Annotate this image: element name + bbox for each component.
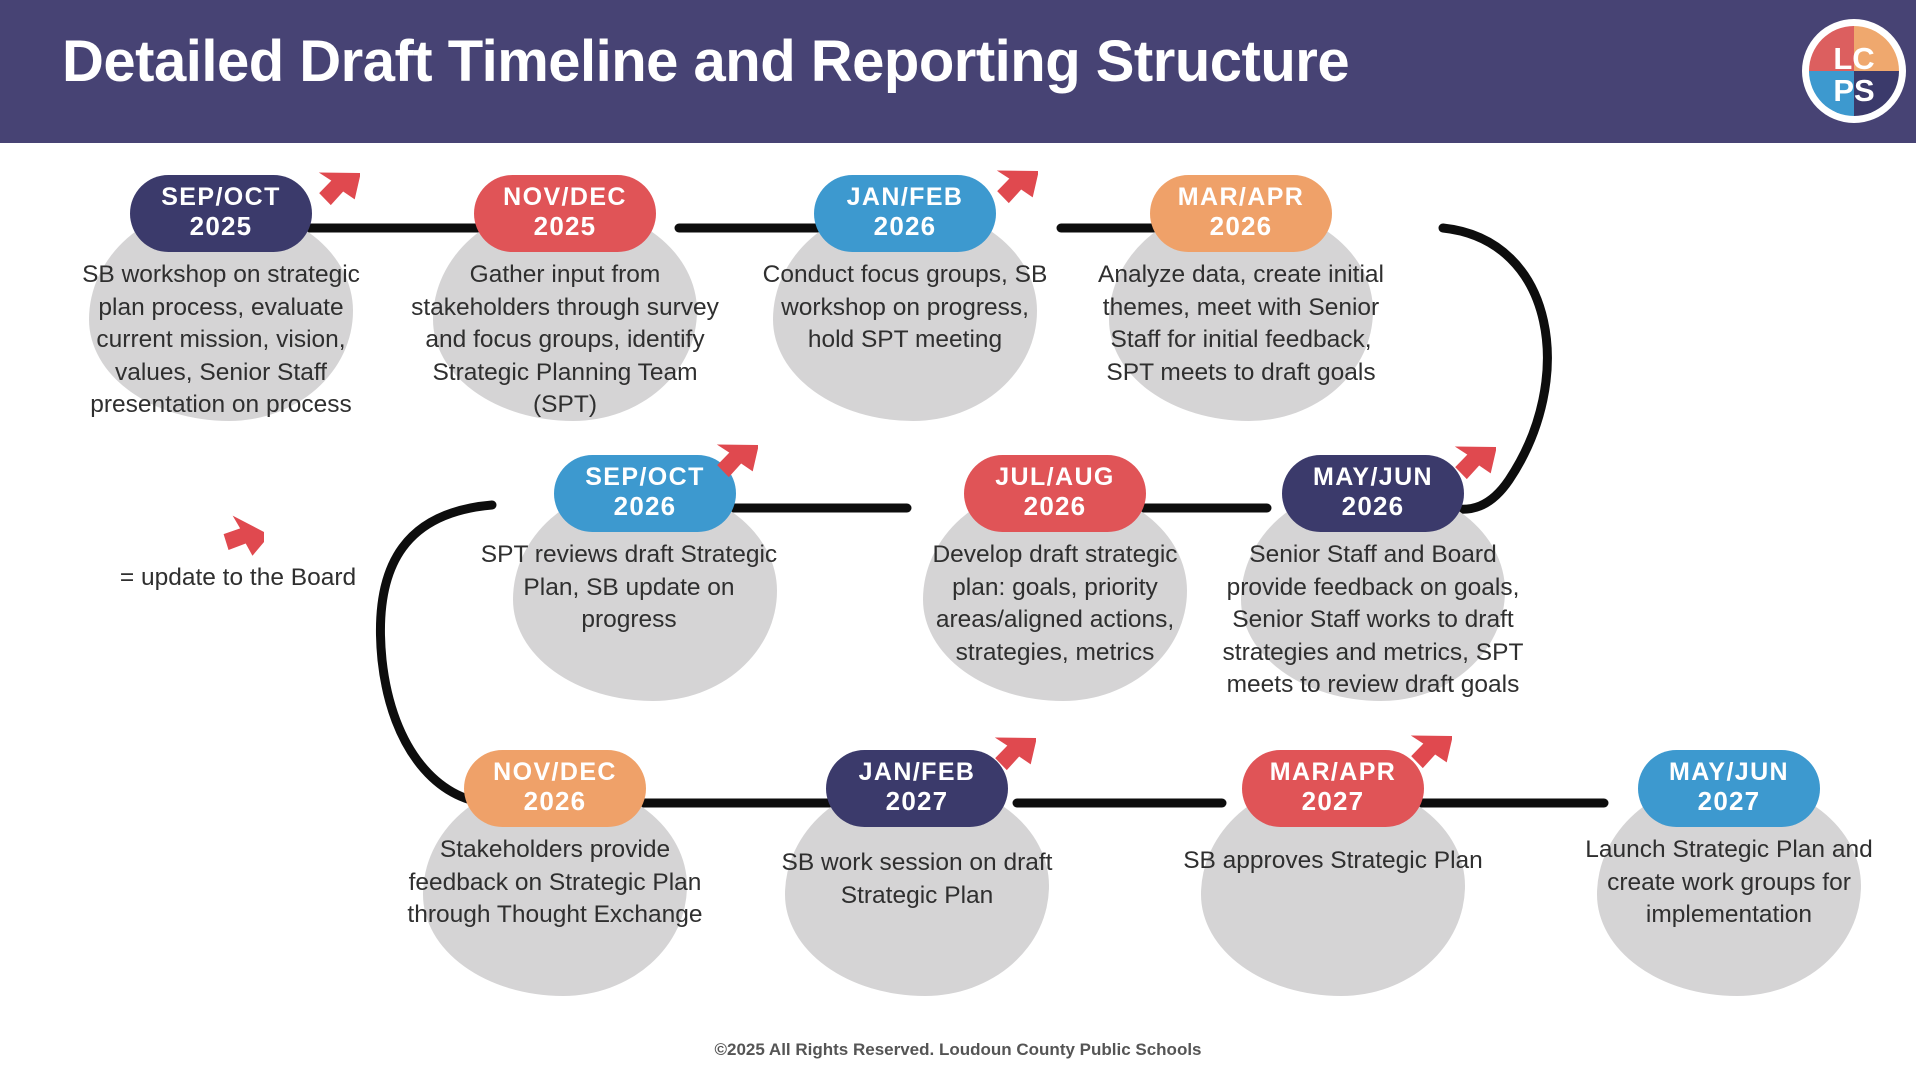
connector-7-8 xyxy=(380,505,492,803)
stage-period-pill[interactable]: MAY/JUN 2027 xyxy=(1638,750,1820,827)
stage-period-pill[interactable]: NOV/DEC 2025 xyxy=(474,175,656,252)
stage-description: SB approves Strategic Plan xyxy=(1170,845,1496,878)
logo-line-2: PS xyxy=(1833,73,1874,108)
stage-description: Develop draft strategic plan: goals, pri… xyxy=(906,539,1204,669)
board-update-arrow-icon xyxy=(702,435,758,491)
stage-period-pill[interactable]: SEP/OCT 2025 xyxy=(130,175,312,252)
board-update-arrow-icon xyxy=(304,163,360,219)
stage-description: Launch Strategic Plan and create work gr… xyxy=(1580,834,1878,932)
stage-period-pill[interactable]: NOV/DEC 2026 xyxy=(464,750,646,827)
stage-description: Stakeholders provide feedback on Strateg… xyxy=(392,834,718,932)
board-update-arrow-icon xyxy=(982,161,1038,217)
board-update-arrow-icon xyxy=(208,510,264,566)
stage-description: Senior Staff and Board provide feedback … xyxy=(1210,539,1536,702)
legend: = update to the Board xyxy=(88,510,388,594)
stage-description: Gather input from stakeholders through s… xyxy=(402,259,728,422)
stage-description: Conduct focus groups, SB workshop on pro… xyxy=(756,259,1054,357)
board-update-arrow-icon xyxy=(1396,726,1452,782)
stage-description: SPT reviews draft Strategic Plan, SB upd… xyxy=(480,539,778,637)
board-update-arrow-icon xyxy=(1440,437,1496,493)
stage-description: SB work session on draft Strategic Plan xyxy=(754,847,1080,912)
copyright-footer: ©2025 All Rights Reserved. Loudoun Count… xyxy=(0,1040,1916,1060)
legend-label: = update to the Board xyxy=(88,562,388,594)
page-title: Detailed Draft Timeline and Reporting St… xyxy=(62,26,1702,99)
stage-period-pill[interactable]: JUL/AUG 2026 xyxy=(964,455,1146,532)
stage-period-pill[interactable]: MAY/JUN 2026 xyxy=(1282,455,1464,532)
board-update-arrow-icon xyxy=(980,728,1036,784)
stage-description: SB workshop on strategic plan process, e… xyxy=(58,259,384,422)
lcps-logo: LC PS xyxy=(1798,15,1910,127)
stage-period-pill[interactable]: JAN/FEB 2026 xyxy=(814,175,996,252)
slide-header-bar: Detailed Draft Timeline and Reporting St… xyxy=(0,0,1916,143)
slide: Detailed Draft Timeline and Reporting St… xyxy=(0,0,1916,1080)
stage-period-pill[interactable]: MAR/APR 2026 xyxy=(1150,175,1332,252)
stage-description: Analyze data, create initial themes, mee… xyxy=(1092,259,1390,389)
logo-line-1: LC xyxy=(1833,41,1874,76)
legend-arrow-wrap xyxy=(100,510,388,560)
